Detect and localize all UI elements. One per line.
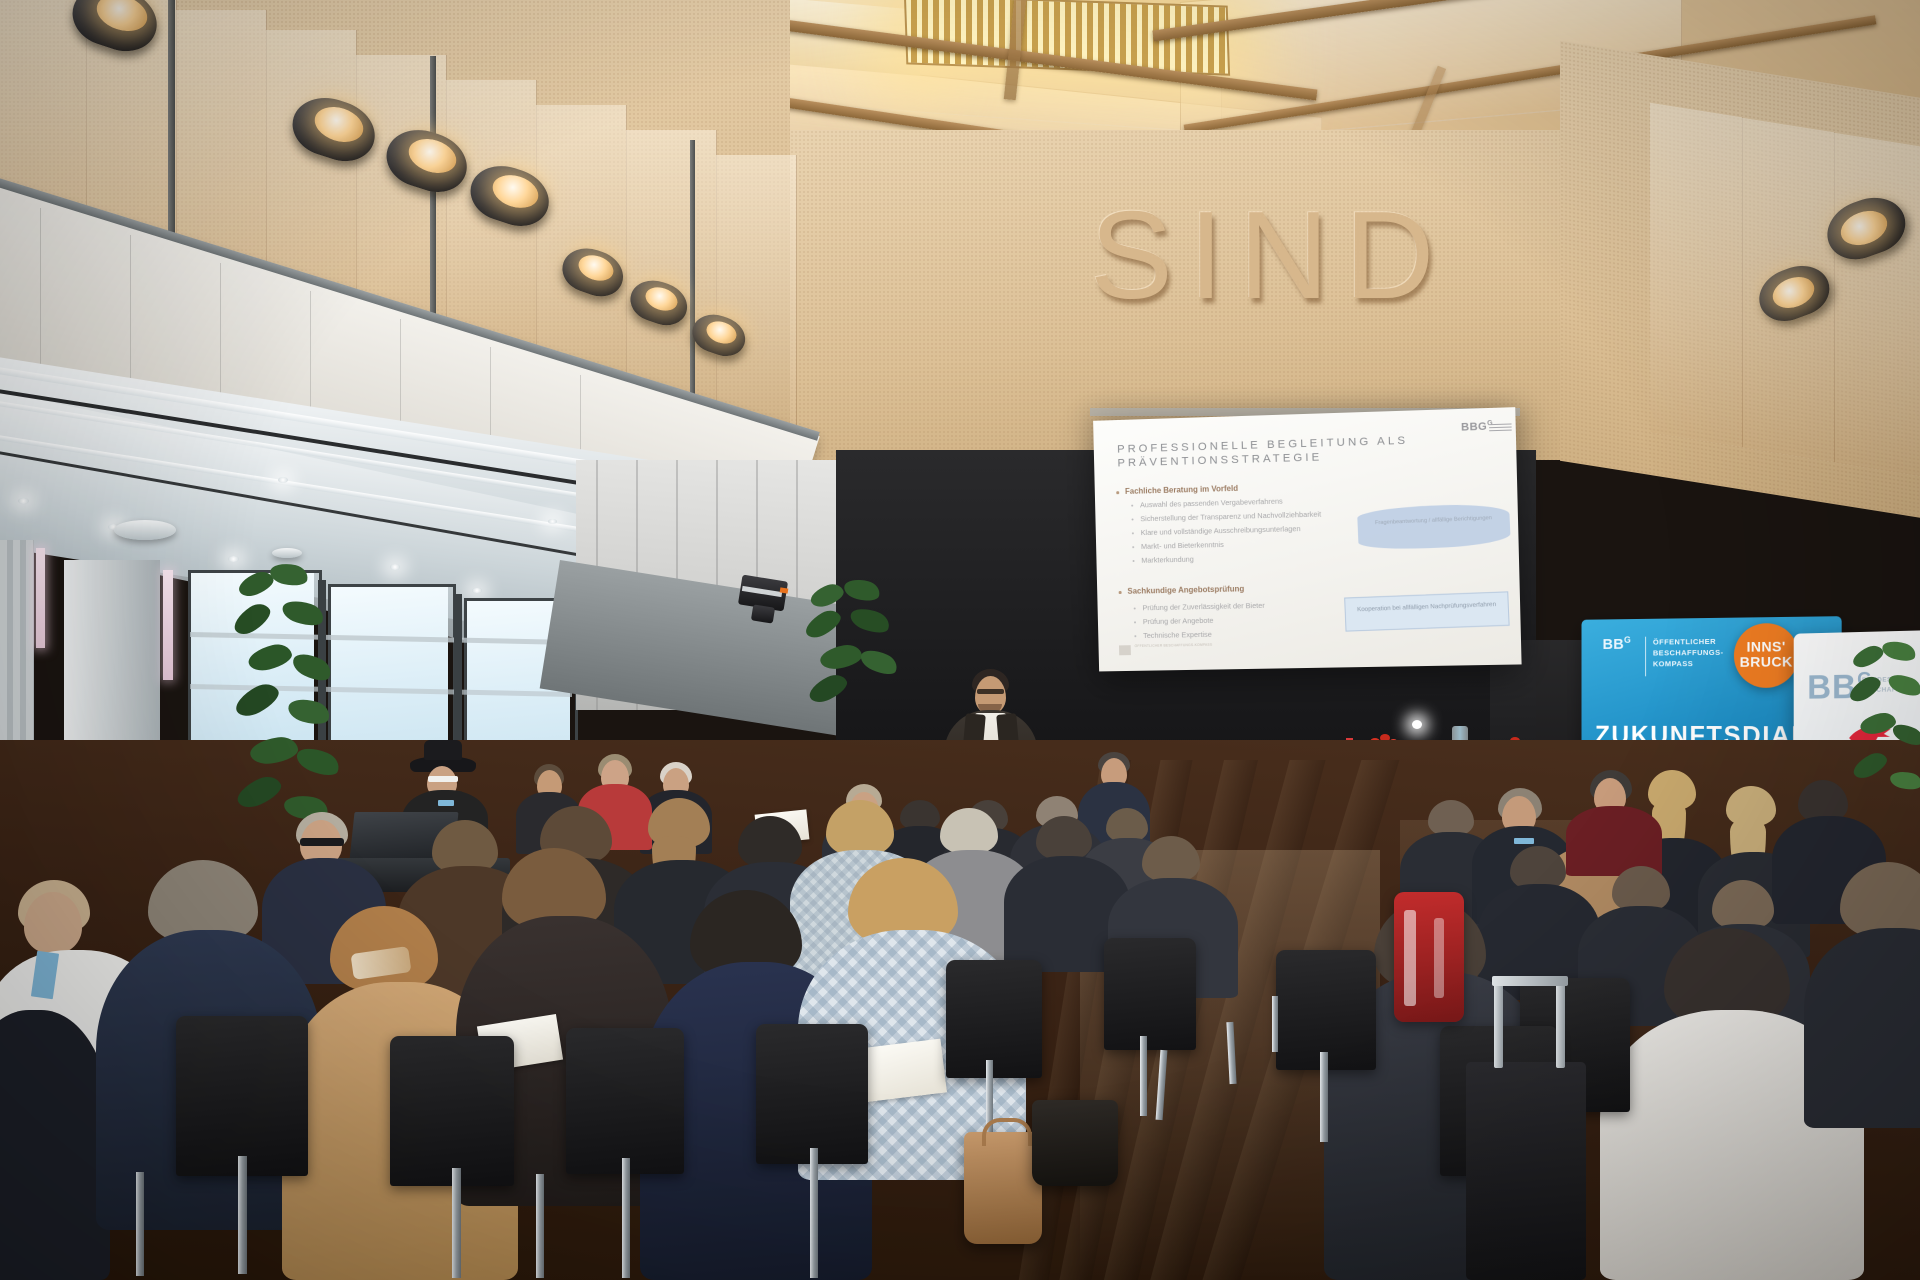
chair-leg	[810, 1148, 818, 1278]
slide-callout: Kooperation bei allfälligen Nachprüfungs…	[1344, 591, 1510, 631]
bullet-dot	[1132, 518, 1134, 520]
potted-plant-left	[230, 560, 360, 860]
chair-leg	[622, 1158, 630, 1278]
chair-leg	[136, 1172, 144, 1276]
bullet-dot	[1134, 621, 1136, 623]
projector-indicator	[780, 587, 789, 593]
slide-logo-text: BBG	[1461, 421, 1487, 434]
chair-leg	[238, 1156, 247, 1274]
wall-lettering-sind: SIND	[1090, 185, 1450, 327]
bullet-dot	[1132, 546, 1134, 548]
handbag	[964, 1132, 1042, 1244]
suitcase-handle-grip	[1492, 976, 1568, 986]
projector-mount	[751, 604, 775, 623]
slide-footer-mark	[1119, 645, 1131, 655]
slide-bullet: Klare und vollständige Ausschreibungsunt…	[1141, 524, 1301, 537]
slide-bullet: Markterkundung	[1141, 555, 1194, 565]
slide-wave-banner: Fragenbeantwortung / allfällige Berichti…	[1357, 502, 1511, 551]
suitcase-handle-bar	[1494, 982, 1503, 1068]
jacket-stripe	[1434, 918, 1444, 998]
chair	[176, 1016, 308, 1176]
wall-spot	[1412, 720, 1422, 729]
laptop-bag	[1032, 1100, 1118, 1186]
smoke-detector	[114, 520, 176, 540]
smoke-detector	[272, 548, 302, 558]
bullet-dot	[1119, 591, 1122, 594]
jacket-stripe	[1404, 910, 1416, 1006]
slide-logo-lines	[1489, 423, 1512, 432]
chair	[756, 1024, 868, 1164]
ceiling-downlight	[18, 498, 29, 504]
wall-light-strip	[163, 570, 173, 680]
slide-section-heading: Fachliche Beratung im Vorfeld	[1125, 484, 1238, 496]
conference-photo: SIND	[0, 0, 1920, 1280]
eyeglasses	[300, 838, 344, 846]
front-dark-jacket	[0, 1010, 110, 1280]
chair	[566, 1028, 684, 1174]
ceiling-downlight	[472, 588, 482, 593]
chair-leg	[1320, 1052, 1328, 1142]
potted-plant-right	[1846, 640, 1920, 840]
bullet-dot	[1132, 532, 1134, 534]
chair	[390, 1036, 514, 1186]
chair-leg	[452, 1168, 461, 1278]
chair-leg	[1140, 1036, 1147, 1116]
chair-leg	[1272, 996, 1278, 1052]
chair	[1104, 938, 1196, 1050]
slide-bullet: Sicherstellung der Transparenz und Nachv…	[1140, 510, 1321, 524]
slide-bullet: Technische Expertise	[1143, 630, 1212, 640]
chair-leg	[536, 1174, 544, 1278]
slide-footer: ÖFFENTLICHER BESCHAFFUNGS-KOMPASS	[1135, 643, 1224, 650]
innsbruck-line2: BRUCK	[1734, 654, 1799, 670]
hat-crown	[424, 740, 462, 760]
slide-bullet: Markt- und Bieterkenntnis	[1141, 540, 1224, 551]
curtain	[0, 540, 34, 740]
suitcase-handle-bar	[1556, 982, 1565, 1068]
eyeglasses	[428, 776, 458, 782]
rolling-suitcase	[1466, 1062, 1586, 1280]
wall-light-strip	[36, 548, 45, 648]
wall-panel	[1650, 103, 1743, 448]
potted-plant-centre	[800, 580, 920, 710]
slide-callout-text: Kooperation bei allfälligen Nachprüfungs…	[1345, 599, 1507, 614]
presentation-slide: PROFESSIONELLE BEGLEITUNG ALS PRÄVENTION…	[1093, 407, 1521, 671]
chair	[946, 960, 1042, 1078]
bbg-logo: BBG	[1603, 635, 1632, 653]
ceiling-downlight	[278, 477, 288, 483]
logo-divider	[1645, 637, 1646, 677]
speaker-glasses	[977, 689, 1004, 694]
slide-bullet: Auswahl des passenden Vergabeverfahrens	[1140, 497, 1283, 510]
slide-bullet: Prüfung der Angebote	[1143, 616, 1214, 626]
innsbruck-badge: INNS' BRUCK	[1734, 623, 1799, 688]
ceiling-downlight	[548, 519, 557, 524]
bullet-dot	[1131, 505, 1133, 507]
wall-panel	[1834, 133, 1920, 478]
slide-bullet: Prüfung der Zuverlässigkeit der Bieter	[1142, 601, 1265, 612]
handbag-strap	[982, 1118, 1032, 1146]
bullet-dot	[1134, 607, 1136, 609]
bullet-dot	[1133, 560, 1135, 562]
ceiling-downlight	[390, 564, 400, 570]
bbg-logo-text: BB	[1603, 636, 1624, 653]
slide-section-heading: Sachkundige Angebotsprüfung	[1127, 584, 1244, 595]
bbg-logo-sup: G	[1624, 635, 1631, 645]
bullet-dot	[1134, 635, 1136, 637]
slide-title: PROFESSIONELLE BEGLEITUNG ALS PRÄVENTION…	[1117, 432, 1497, 471]
bullet-dot	[1116, 491, 1119, 494]
slide-wave-text: Fragenbeantwortung / allfällige Berichti…	[1357, 513, 1509, 528]
